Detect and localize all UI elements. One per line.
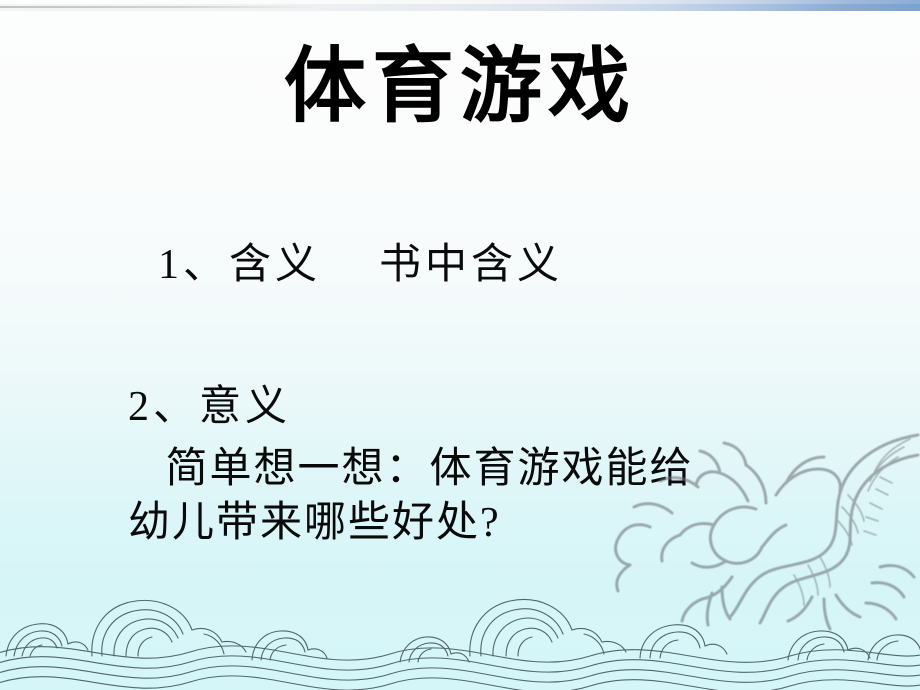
top-accent-bar-highlight [0, 0, 920, 4]
body-line-2: 2、意义 [128, 372, 291, 433]
top-accent-bar-rule [0, 6, 320, 8]
presentation-slide: 体育游戏 1、含义 书中含义 2、意义 简单想一想：体育游戏能给 幼儿带来哪些好… [0, 0, 920, 690]
body-line-1: 1、含义 书中含义 [158, 230, 563, 291]
body-line-3: 简单想一想：体育游戏能给 [128, 434, 694, 495]
body-line-4: 幼儿带来哪些好处? [128, 488, 501, 549]
top-accent-bar [0, 0, 920, 11]
slide-title: 体育游戏 [0, 46, 920, 128]
